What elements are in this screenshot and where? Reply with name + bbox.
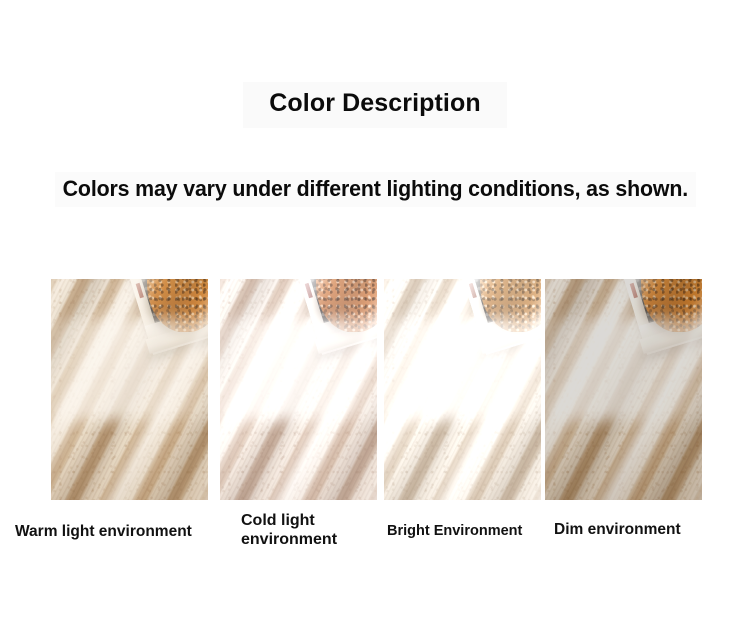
product-photo-scene [384, 279, 541, 500]
photo-vignette [545, 279, 702, 500]
swatch-caption-cold-light: Cold light environment [241, 512, 356, 550]
swatch-gallery [0, 0, 750, 638]
product-photo-scene [220, 279, 377, 500]
product-photo-scene [51, 279, 208, 500]
swatch-image-bright [384, 279, 541, 500]
swatch-image-cold-light [220, 279, 377, 500]
swatch-image-warm-light [51, 279, 208, 500]
swatch-image-dim [545, 279, 702, 500]
color-description-page: Color Description Colors may vary under … [0, 0, 750, 638]
photo-vignette [384, 279, 541, 500]
swatch-caption-dim: Dim environment [554, 521, 714, 539]
swatch-caption-bright: Bright Environment [387, 523, 537, 540]
photo-vignette [220, 279, 377, 500]
swatch-caption-warm-light: Warm light environment [15, 523, 225, 541]
photo-vignette [51, 279, 208, 500]
product-photo-scene [545, 279, 702, 500]
